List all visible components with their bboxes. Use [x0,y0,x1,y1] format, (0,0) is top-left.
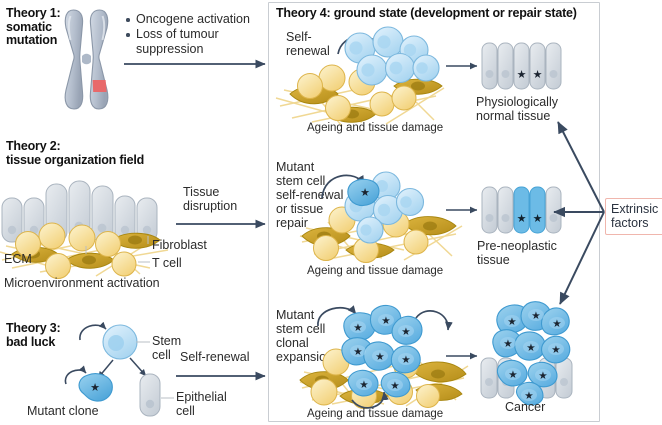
svg-text:★: ★ [360,186,370,199]
theory2-title: Theory 2: tissue organization field [6,140,191,167]
normal-tissue-icon: ★★ [481,41,565,93]
svg-text:★: ★ [503,338,512,350]
theory2-label-ecm: ECM [4,252,32,266]
svg-text:★: ★ [381,315,390,327]
theory4-row1-arrow [446,60,484,72]
theory4-row2-arrow [446,204,484,216]
bullet-item: Loss of tumour suppression [125,27,250,57]
svg-text:★: ★ [353,322,362,334]
theory4-row3-stroma-caption: Ageing and tissue damage [307,408,443,421]
svg-text:★: ★ [359,379,368,391]
svg-text:★: ★ [517,68,527,81]
svg-text:★: ★ [538,370,547,382]
theory3-label-mutant: Mutant clone [27,404,99,418]
svg-text:★: ★ [375,351,384,363]
theory2-arrow-label: Tissue disruption [183,185,261,213]
svg-text:★: ★ [517,212,527,225]
svg-text:★: ★ [526,342,535,354]
theory3-arrow-label: Self-renewal [180,350,249,364]
theory3-arrow [176,370,272,382]
theory2-leader-lines [80,234,160,270]
theory2-arrow [176,218,272,230]
theory2-label-fibroblast: Fibroblast [152,238,207,252]
svg-text:★: ★ [353,346,362,358]
svg-text:★: ★ [90,381,100,394]
theory1-bullets: Oncogene activation Loss of tumour suppr… [125,12,250,57]
svg-text:★: ★ [531,310,540,322]
theory2-label-tcell: T cell [152,256,182,270]
theory4-row1-illustration [276,24,466,134]
theory3-label-stem: Stem cell [152,334,181,362]
svg-text:★: ★ [390,380,399,392]
svg-text:★: ★ [508,369,517,381]
svg-text:★: ★ [551,344,560,356]
theory2-caption: Microenvironment activation [4,276,160,290]
theory3-label-epithelial: Epithelial cell [176,390,227,418]
svg-text:★: ★ [401,354,410,366]
svg-text:★: ★ [533,212,543,225]
svg-text:★: ★ [401,326,410,338]
theory4-row2-stroma-caption: Ageing and tissue damage [307,265,443,278]
theory4-title: Theory 4: ground state (development or r… [276,7,606,21]
svg-text:★: ★ [507,316,516,328]
theory4-row1-stroma-caption: Ageing and tissue damage [307,122,443,135]
theory4-row3-outcome-label: Cancer [505,400,545,414]
svg-text:★: ★ [533,68,543,81]
extrinsic-factors-box: Extrinsic factors [605,198,662,235]
bullet-item: Oncogene activation [125,12,250,27]
chromosome-icon [57,6,117,114]
theory1-arrow [124,58,272,70]
